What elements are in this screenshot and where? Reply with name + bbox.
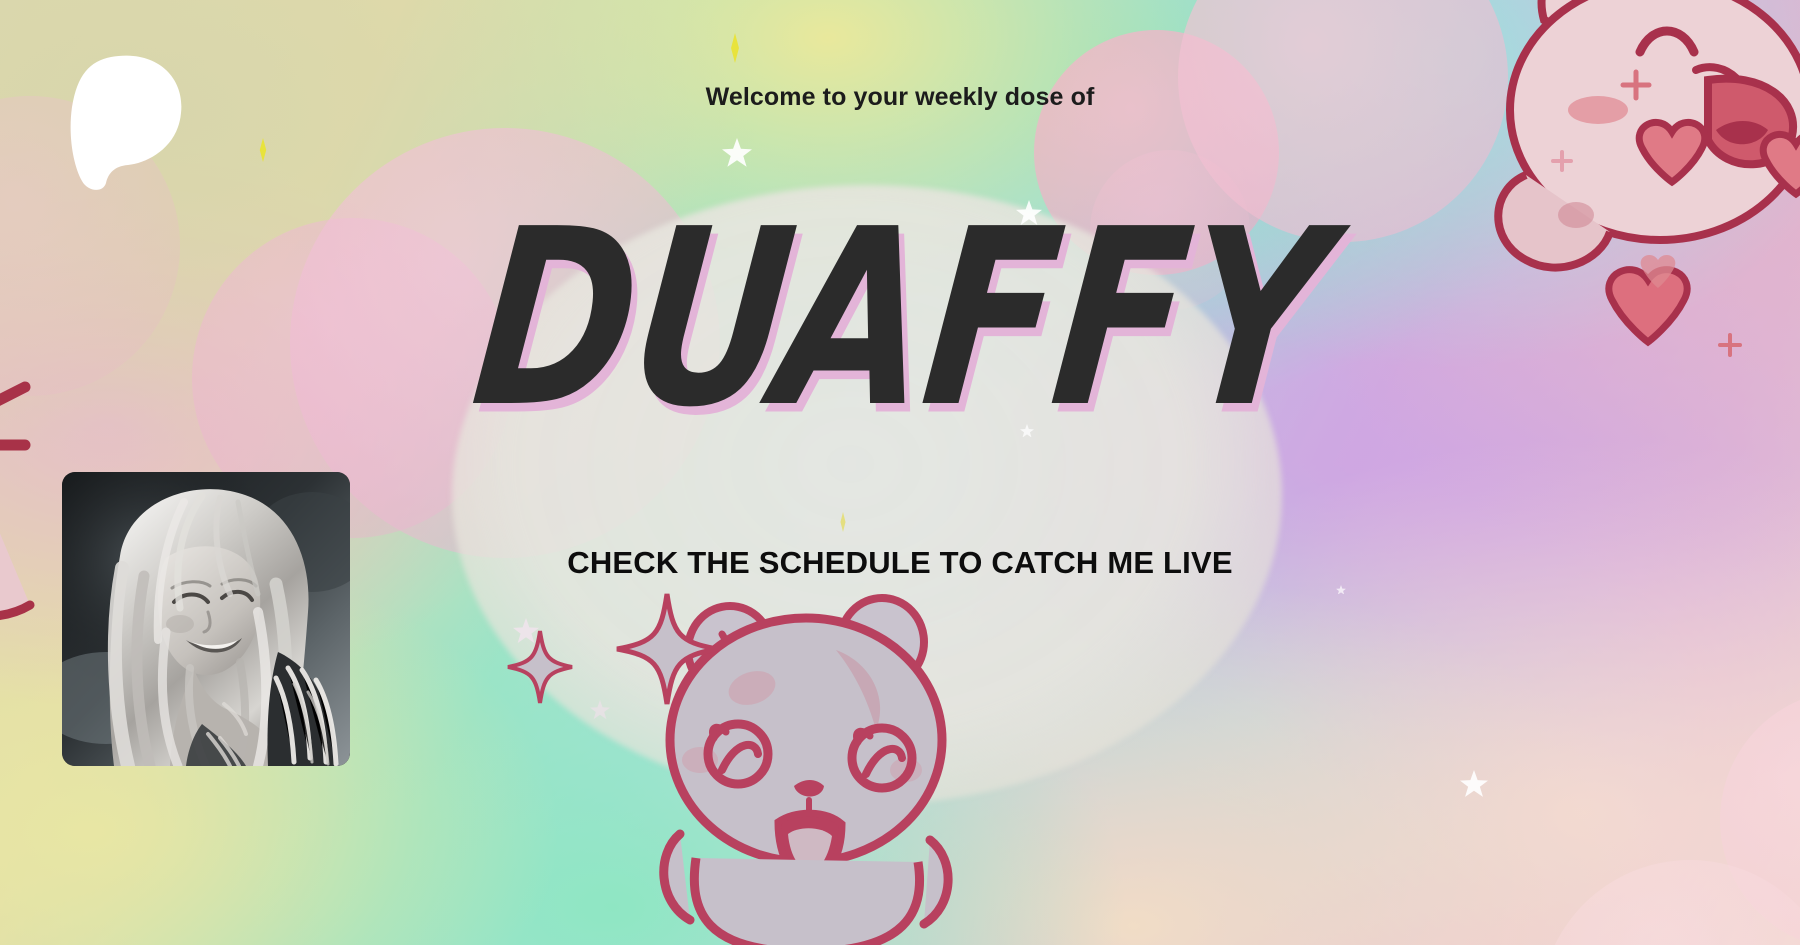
creator-avatar[interactable]	[62, 472, 350, 766]
patreon-logo-icon[interactable]	[70, 55, 182, 190]
brand-title: DUAFFY	[464, 192, 1336, 448]
welcome-heading: Welcome to your weekly dose of	[0, 83, 1800, 112]
sparkle-star-icon	[613, 590, 721, 708]
sparkle-star-icon	[505, 628, 575, 706]
brand-title-container: DUAFFY	[0, 215, 1800, 515]
stream-overlay-screen: Welcome to your weekly dose of DUAFFY CH…	[0, 0, 1800, 945]
